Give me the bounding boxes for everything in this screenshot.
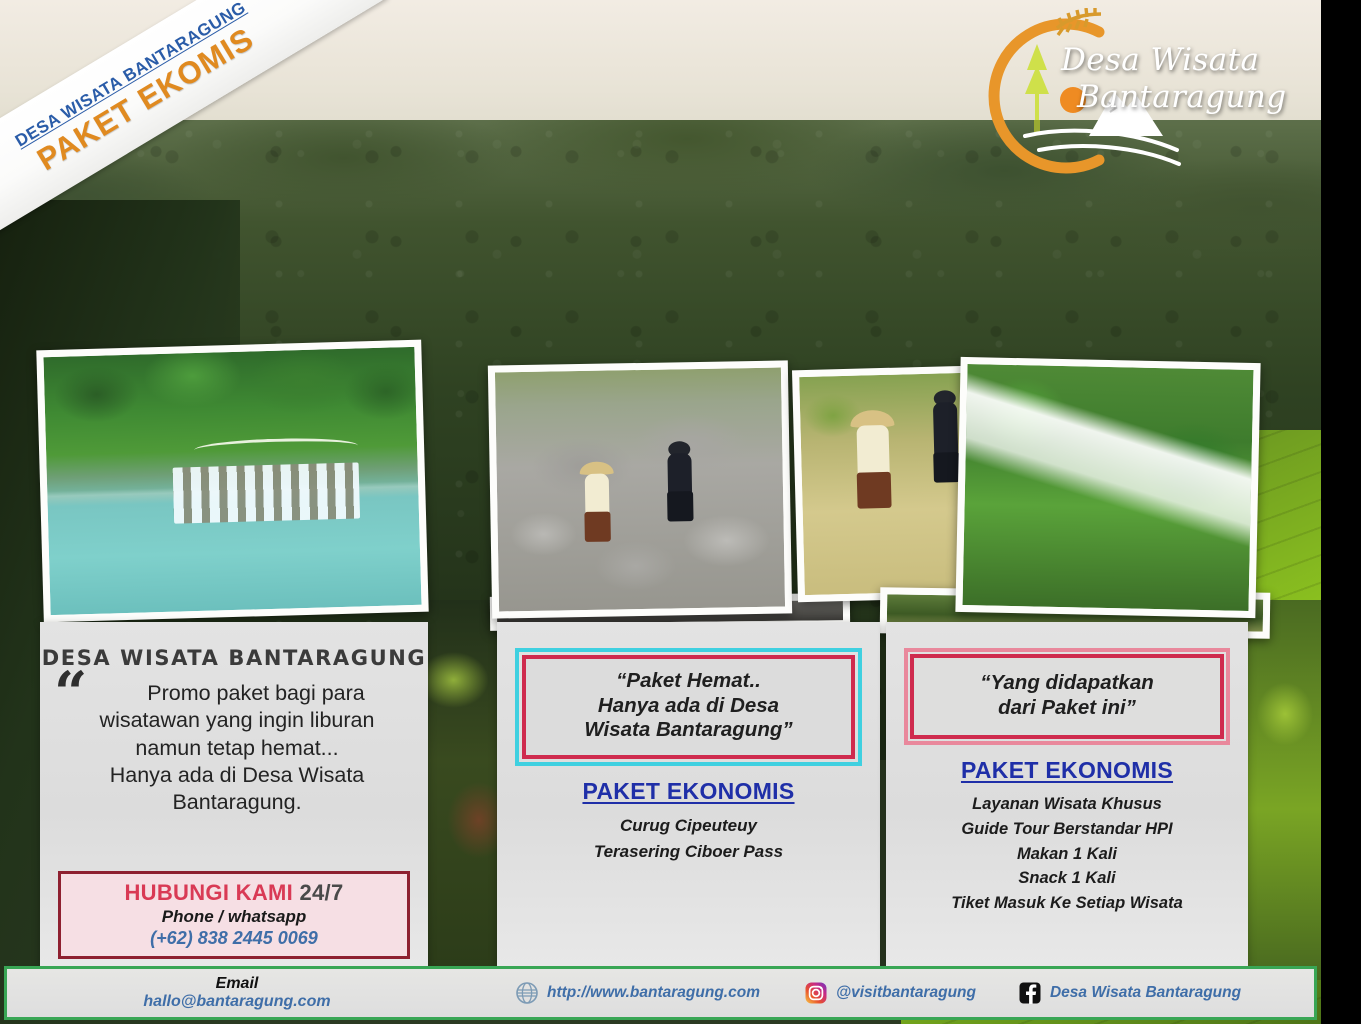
list-item: Makan 1 Kali [886,842,1248,867]
list-item: Terasering Ciboer Pass [497,839,880,865]
right-callout-line-1: “Yang didapatkan [980,671,1154,694]
middle-package-list: Curug Cipeuteuy Terasering Ciboer Pass [497,813,880,866]
contact-footer: Email hallo@bantaragung.com http://www.b… [4,966,1317,1020]
promo-quote-block: “ Promo paket bagi para wisatawan yang i… [40,670,428,816]
brand-logo: Desa Wisata Bantaragung [981,8,1311,180]
waterfall-weir-photo [36,340,428,623]
right-info-panel: “Yang didapatkan dari Paket ini” PAKET E… [886,622,1248,967]
figure-harvester [849,410,897,501]
pine-tree-icon [1025,44,1049,132]
list-item: Layanan Wisata Khusus [886,792,1248,817]
quote-line-3: namun tetap hemat... [135,736,338,760]
globe-icon [515,981,539,1005]
right-callout-box: “Yang didapatkan dari Paket ini” [904,648,1230,745]
rice-harvest-photo [792,366,976,603]
figure-woman [577,461,618,542]
list-item: Curug Cipeuteuy [497,813,880,839]
right-callout-line-2: dari Paket ini” [998,696,1136,719]
cascade-waterfall-photo [955,357,1260,618]
middle-callout-box: “Paket Hemat.. Hanya ada di Desa Wisata … [515,648,862,766]
list-item: Snack 1 Kali [886,866,1248,891]
middle-info-panel: “Paket Hemat.. Hanya ada di Desa Wisata … [497,622,880,967]
footer-email-label: Email [7,975,467,993]
contact-box[interactable]: HUBUNGI KAMI 24/7 Phone / whatsapp (+62)… [58,871,410,959]
quote-line-4: Hanya ada di Desa Wisata [110,763,365,787]
middle-callout-line-1: “Paket Hemat.. [616,669,761,692]
right-black-bar [1321,0,1361,1024]
contact-phone-number[interactable]: (+62) 838 2445 0069 [65,928,403,949]
right-package-list: Layanan Wisata Khusus Guide Tour Berstan… [886,792,1248,916]
logo-wordmark: Desa Wisata Bantaragung [1061,42,1313,115]
figure-man [662,441,697,522]
facebook-icon [1018,981,1042,1005]
middle-callout-line-2: Hanya ada di Desa [598,694,779,717]
footer-facebook-text: Desa Wisata Bantaragung [1050,984,1241,1002]
logo-line-2: Bantaragung [1077,79,1313,116]
footer-instagram-text: @visitbantaragung [836,984,976,1002]
middle-callout-line-3: Wisata Bantaragung” [584,718,792,741]
quote-mark-icon: “ [54,676,87,711]
middle-callout-text: “Paket Hemat.. Hanya ada di Desa Wisata … [534,669,843,743]
list-item: Guide Tour Berstandar HPI [886,817,1248,842]
quote-line-1: Promo paket bagi para [68,680,406,707]
contact-channel-label: Phone / whatsapp [65,907,403,927]
quote-line-5: Bantaragung. [172,790,301,814]
footer-website-link[interactable]: http://www.bantaragung.com [515,981,760,1005]
contact-title-hours: 24/7 [299,880,343,905]
background-foliage-left-gap [420,600,504,1000]
left-info-panel: DESA WISATA BANTARAGUNG “ Promo paket ba… [40,622,428,967]
contact-title: HUBUNGI KAMI 24/7 [65,880,403,906]
logo-line-1: Desa Wisata [1061,42,1259,78]
rocks-couple-photo [488,360,792,618]
left-panel-heading: DESA WISATA BANTARAGUNG [40,646,428,670]
quote-line-2: wisatawan yang ingin liburan [100,708,375,732]
footer-facebook-link[interactable]: Desa Wisata Bantaragung [1018,981,1241,1005]
footer-instagram-link[interactable]: @visitbantaragung [804,981,976,1005]
footer-email-value[interactable]: hallo@bantaragung.com [7,993,467,1011]
background-foliage-right-gap [1248,600,1321,980]
poster-canvas: DESA WISATA BANTARAGUNG PAKET EKOMIS [0,0,1321,1024]
right-callout-text: “Yang didapatkan dari Paket ini” [922,671,1212,720]
right-package-title: PAKET EKONOMIS [886,757,1248,784]
promo-quote-text: Promo paket bagi para wisatawan yang ing… [62,680,406,816]
list-item: Tiket Masuk Ke Setiap Wisata [886,891,1248,916]
footer-email-block[interactable]: Email hallo@bantaragung.com [7,975,467,1011]
middle-package-title: PAKET EKONOMIS [497,778,880,805]
footer-website-text: http://www.bantaragung.com [547,984,760,1002]
instagram-icon [804,981,828,1005]
contact-title-red: HUBUNGI KAMI [124,880,293,905]
